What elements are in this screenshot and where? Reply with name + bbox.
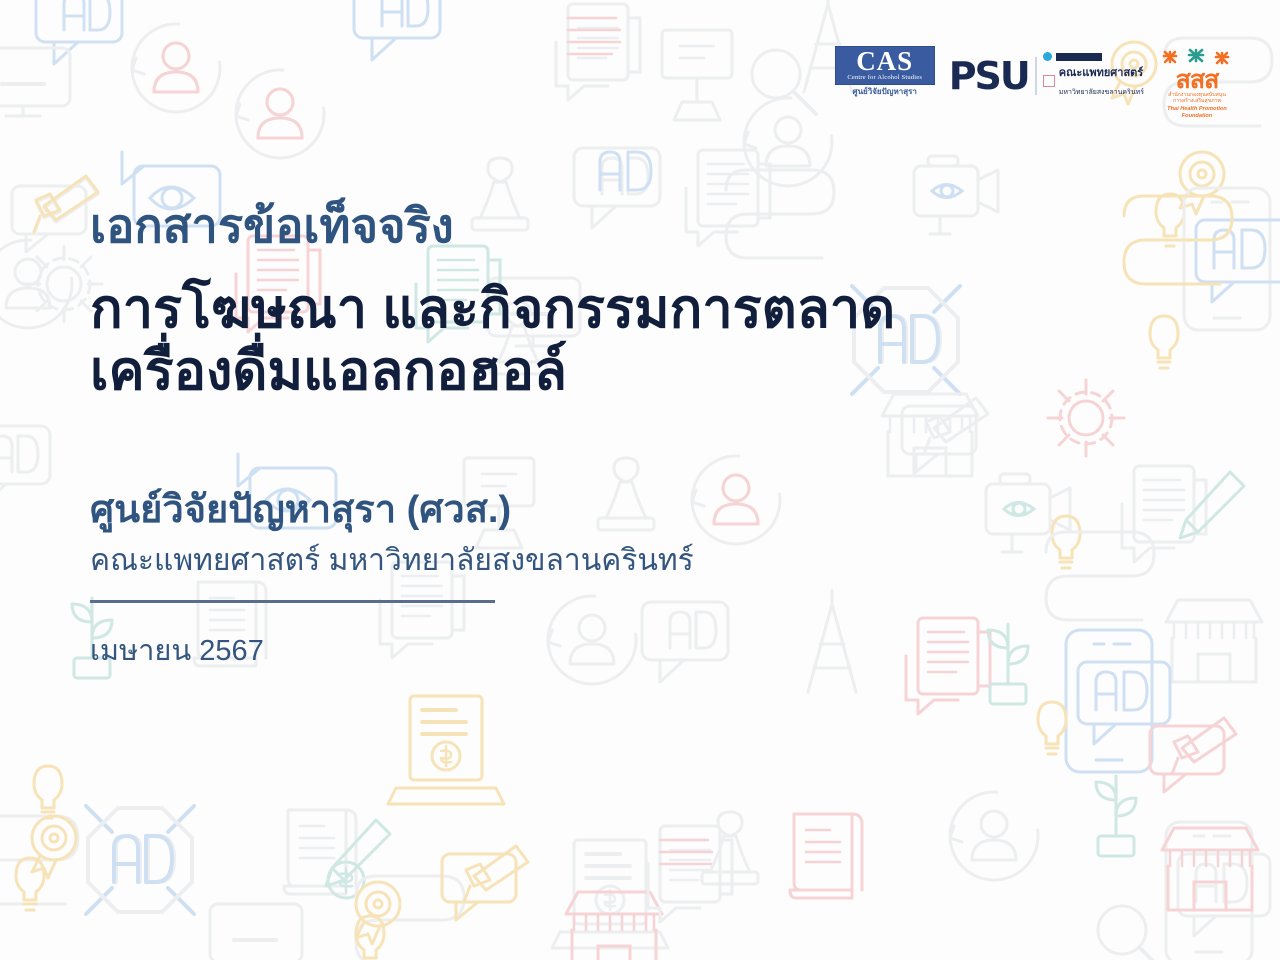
logo-bar: CAS Centre for Alcohol Studies ศูนย์วิจั… xyxy=(835,46,1236,120)
document-kicker: เอกสารข้อเท็จจริง xyxy=(90,196,1170,256)
cas-subtitle: Centre for Alcohol Studies xyxy=(840,74,930,82)
document-cover-page: CAS Centre for Alcohol Studies ศูนย์วิจั… xyxy=(0,0,1280,960)
cas-logo: CAS Centre for Alcohol Studies ศูนย์วิจั… xyxy=(835,46,935,97)
thaihealth-acronym: สสส xyxy=(1158,68,1236,92)
page-title-line1: การโฆษณา และกิจกรรมการตลาด xyxy=(90,279,895,339)
cover-text-block: เอกสารข้อเท็จจริง การโฆษณา และกิจกรรมการ… xyxy=(90,196,1170,671)
thaihealth-subtitle2: การสร้างเสริมสุขภาพ xyxy=(1158,98,1236,104)
thaihealth-tagline: Thai Health Promotion Foundation xyxy=(1158,106,1236,120)
psu-bar-icon xyxy=(1056,53,1102,61)
psu-acronym: PSU xyxy=(949,57,1029,95)
psu-faculty-mark: คณะแพทยศาสตร์ มหาวิทยาลัยสงขลานครินทร์ xyxy=(1043,52,1144,101)
psu-divider xyxy=(1035,57,1037,95)
psu-square-icon xyxy=(1043,75,1055,87)
psu-dot-icon xyxy=(1043,52,1052,61)
organization-name: ศูนย์วิจัยปัญหาสุรา (ศวส.) xyxy=(90,486,1170,534)
page-title: การโฆษณา และกิจกรรมการตลาด เครื่องดื่มแอ… xyxy=(90,278,1170,402)
page-title-line2: เครื่องดื่มแอลกอฮอล์ xyxy=(90,340,1170,402)
psu-mark-row-bottom: คณะแพทยศาสตร์ มหาวิทยาลัยสงขลานครินทร์ xyxy=(1043,63,1144,99)
psu-university-thai: มหาวิทยาลัยสงขลานครินทร์ xyxy=(1059,89,1144,96)
cas-logo-box: CAS Centre for Alcohol Studies xyxy=(835,46,935,85)
publication-date: เมษายน 2567 xyxy=(90,631,1170,671)
divider-rule xyxy=(90,600,495,603)
psu-mark-row-top xyxy=(1043,52,1144,61)
cas-thai-name: ศูนย์วิจัยปัญหาสุรา xyxy=(835,86,935,97)
cas-acronym: CAS xyxy=(840,49,930,74)
thaihealth-logo: สสส สำนักงานกองทุนสนับสนุน การสร้างเสริม… xyxy=(1158,48,1236,120)
faculty-name: คณะแพทยศาสตร์ มหาวิทยาลัยสงขลานครินทร์ xyxy=(90,540,1170,582)
thaihealth-stars-icon xyxy=(1158,48,1236,68)
psu-logo: PSU คณะแพทยศาสตร์ มหาวิทยาลัยสงขลานครินท… xyxy=(949,50,1144,101)
psu-faculty-thai: คณะแพทยศาสตร์ xyxy=(1059,67,1143,79)
